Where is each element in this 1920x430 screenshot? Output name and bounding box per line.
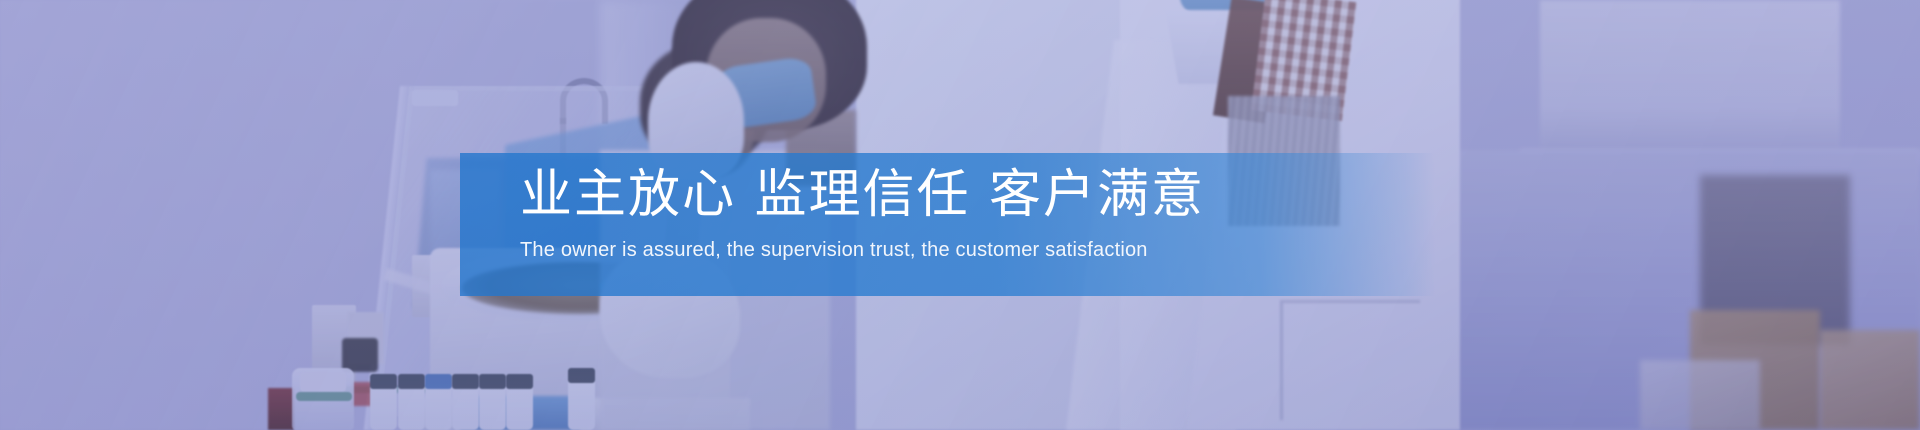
banner-headline: 业主放心 监理信任 客户满意 xyxy=(520,165,1205,225)
caption-band-inner: 业主放心 监理信任 客户满意 The owner is assured, the… xyxy=(460,153,1435,296)
banner-subheadline: The owner is assured, the supervision tr… xyxy=(520,237,1148,263)
caption-band: 业主放心 监理信任 客户满意 The owner is assured, the… xyxy=(460,153,1435,296)
hero-banner: 业主放心 监理信任 客户满意 The owner is assured, the… xyxy=(0,0,1920,430)
